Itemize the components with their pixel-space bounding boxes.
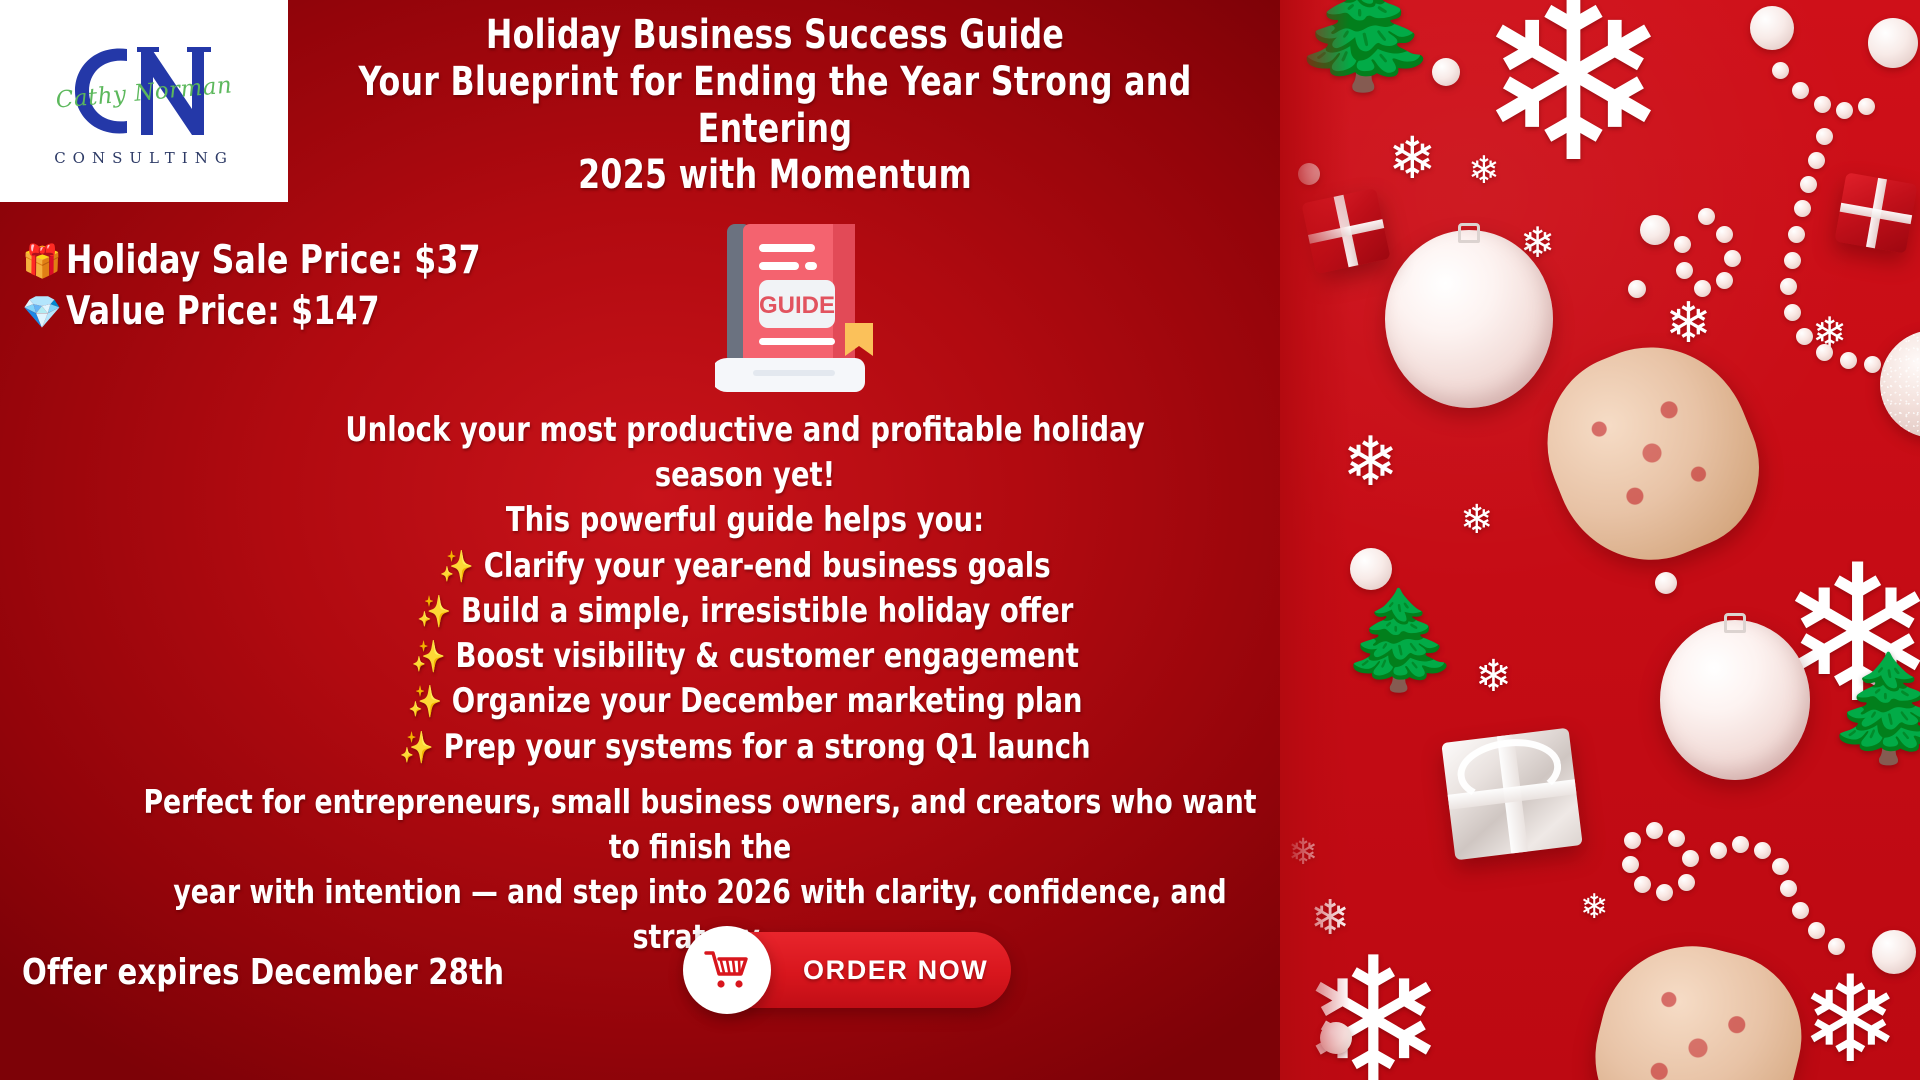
pearl-strand-bead (1816, 344, 1833, 361)
benefit-label: Build a simple, irresistible holiday off… (461, 591, 1073, 631)
guide-book-label: GUIDE (759, 292, 835, 319)
pearl-bead (1750, 6, 1794, 50)
pearl-bead (1628, 280, 1646, 298)
value-price-row: 💎 Value Price: $147 (22, 289, 527, 334)
snowflake-icon: ❄ (1468, 152, 1500, 190)
pearl-strand-bead (1792, 82, 1809, 99)
pearl-strand-bead (1698, 208, 1715, 225)
sale-price-row: 🎁 Holiday Sale Price: $37 (22, 238, 527, 283)
sparkle-icon: ✨ (439, 549, 474, 585)
benefit-label: Prep your systems for a strong Q1 launch (444, 727, 1091, 767)
body-intro-line-1: Unlock your most productive and profitab… (291, 408, 1200, 498)
headline-line-1: Holiday Business Success Guide (357, 12, 1193, 59)
snowflake-icon: ❄ (1388, 130, 1437, 188)
pine-sprig-icon: 🌲 (1340, 600, 1460, 682)
benefit-item: ✨ Organize your December marketing plan (291, 679, 1200, 724)
pearl-strand-bead (1682, 850, 1699, 867)
red-gift-box (1301, 188, 1390, 274)
pearl-strand-bead (1646, 822, 1663, 839)
pearl-strand-bead (1858, 98, 1875, 115)
pearl-strand-bead (1808, 152, 1825, 169)
audience-paragraph: Perfect for entrepreneurs, small busines… (133, 780, 1267, 960)
pearl-strand-bead (1864, 356, 1881, 373)
logo-monogram: Cathy Norman (49, 35, 239, 147)
gold-filigree-ornament (1577, 927, 1819, 1080)
christmas-decorations-photo: ❄ ❄ ❄ ❄ ❄ ❄ ❄ ❄ ❄ ❄ ❄ ❄ ❄ ❄ ❄ 🌲 🌲 🌲 (1280, 0, 1920, 1080)
sparkle-icon: ✨ (399, 730, 434, 766)
sparkle-icon: ✨ (417, 594, 452, 630)
pearl-strand-bead (1676, 262, 1693, 279)
benefit-label: Clarify your year-end business goals (484, 546, 1051, 586)
benefits-block: Unlock your most productive and profitab… (291, 408, 1200, 770)
pearl-bead (1868, 18, 1918, 68)
sale-price-text: Holiday Sale Price: $37 (66, 238, 481, 283)
pearl-bead (1655, 572, 1677, 594)
pearl-strand-bead (1656, 884, 1673, 901)
benefit-label: Organize your December marketing plan (452, 681, 1083, 721)
silver-gift-box (1441, 728, 1582, 861)
pearl-strand-bead (1716, 226, 1733, 243)
benefit-label: Boost visibility & customer engagement (455, 636, 1078, 676)
snowflake-icon: ❄ (1288, 834, 1318, 870)
pearl-strand-bead (1816, 128, 1833, 145)
pearl-strand-bead (1716, 272, 1733, 289)
pearl-strand-bead (1678, 874, 1695, 891)
pearl-strand-bead (1840, 352, 1857, 369)
pearl-bead (1298, 163, 1320, 185)
order-now-button[interactable]: ORDER NOW (693, 932, 1011, 1008)
benefit-item: ✨ Clarify your year-end business goals (291, 544, 1200, 589)
pearl-strand-bead (1668, 830, 1685, 847)
red-gift-box (1834, 172, 1917, 253)
pearl-strand-bead (1622, 856, 1639, 873)
pine-sprig-icon: 🌲 (1825, 665, 1920, 753)
pearl-bead (1350, 548, 1392, 590)
guide-book-icon: GUIDE (715, 218, 880, 393)
sparkle-icon: ✨ (411, 639, 446, 675)
pearl-strand-bead (1784, 304, 1801, 321)
pearl-strand-bead (1724, 250, 1741, 267)
snowflake-icon: ❄ (1342, 428, 1399, 496)
brand-logo: Cathy Norman CONSULTING (0, 0, 288, 202)
pearl-strand-bead (1828, 938, 1845, 955)
holiday-promo-flyer: ❄ ❄ ❄ ❄ ❄ ❄ ❄ ❄ ❄ ❄ ❄ ❄ ❄ ❄ ❄ 🌲 🌲 🌲 (0, 0, 1920, 1080)
sparkle-icon: ✨ (407, 684, 442, 720)
gold-filigree-ornament (1520, 318, 1784, 588)
pearl-strand-bead (1800, 176, 1817, 193)
ornament-ball (1385, 230, 1553, 408)
pearl-strand-bead (1808, 922, 1825, 939)
pine-sprig-icon: 🌲 (1290, 0, 1439, 78)
pearl-strand-bead (1792, 902, 1809, 919)
pearl-strand-bead (1836, 102, 1853, 119)
pearl-strand-bead (1694, 280, 1711, 297)
pearl-strand-bead (1772, 858, 1789, 875)
snowflake-icon: ❄ (1475, 655, 1512, 699)
offer-expiry-text: Offer expires December 28th (22, 952, 504, 993)
gift-emoji: 🎁 (22, 245, 66, 277)
pearl-strand-bead (1674, 236, 1691, 253)
pearl-strand-bead (1732, 836, 1749, 853)
pearl-strand-bead (1634, 876, 1651, 893)
body-intro-line-2: This powerful guide helps you: (291, 498, 1200, 543)
pearl-bead (1320, 1022, 1352, 1054)
pearl-strand-bead (1814, 96, 1831, 113)
closing-line-1: Perfect for entrepreneurs, small busines… (133, 780, 1267, 870)
gem-emoji: 💎 (22, 296, 66, 328)
shopping-cart-icon (704, 949, 750, 991)
pearl-strand-bead (1624, 832, 1641, 849)
order-now-label: ORDER NOW (803, 955, 988, 986)
pearl-bead (1640, 215, 1670, 245)
benefit-item: ✨ Build a simple, irresistible holiday o… (291, 589, 1200, 634)
value-price-text: Value Price: $147 (66, 289, 380, 334)
snowflake-icon: ❄ (1300, 935, 1447, 1080)
cart-icon-circle[interactable] (683, 926, 771, 1014)
benefit-item: ✨ Prep your systems for a strong Q1 laun… (291, 725, 1200, 770)
pearl-strand-bead (1788, 226, 1805, 243)
pearl-strand-bead (1794, 200, 1811, 217)
snowflake-icon: ❄ (1800, 960, 1901, 1080)
pearl-strand-bead (1780, 278, 1797, 295)
headline-line-3: 2025 with Momentum (357, 152, 1193, 199)
pearl-strand-bead (1754, 842, 1771, 859)
pearl-strand-bead (1784, 252, 1801, 269)
logo-consulting-text: CONSULTING (54, 149, 234, 167)
snowflake-icon: ❄ (1580, 890, 1609, 924)
snowflake-icon: ❄ (1475, 0, 1672, 195)
pearl-bead (1872, 930, 1916, 974)
pearl-strand-bead (1796, 328, 1813, 345)
ornament-ball (1660, 620, 1810, 780)
page-title: Holiday Business Success Guide Your Blue… (357, 12, 1193, 199)
snowflake-icon: ❄ (1460, 500, 1494, 540)
pricing-block: 🎁 Holiday Sale Price: $37 💎 Value Price:… (22, 238, 527, 340)
glitter-ball-ornament (1880, 330, 1920, 438)
benefit-item: ✨ Boost visibility & customer engagement (291, 634, 1200, 679)
pearl-bead (1432, 58, 1460, 86)
pearl-strand-bead (1710, 842, 1727, 859)
pearl-strand-bead (1780, 880, 1797, 897)
snowflake-icon: ❄ (1665, 295, 1712, 351)
pearl-strand-bead (1772, 62, 1789, 79)
headline-line-2: Your Blueprint for Ending the Year Stron… (357, 59, 1193, 153)
